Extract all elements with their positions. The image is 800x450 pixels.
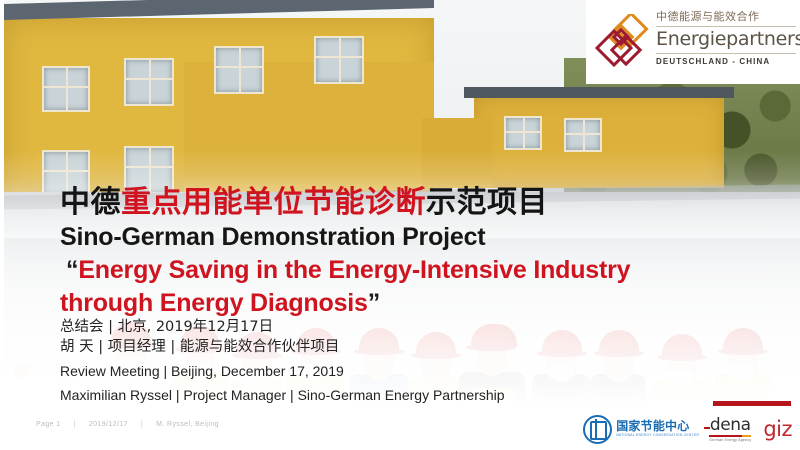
logo-rule — [656, 26, 796, 27]
diamond-lattice-icon — [594, 14, 650, 70]
title-block: 中德重点用能单位节能诊断示范项目 Sino-German Demonstrati… — [60, 186, 760, 318]
window — [214, 46, 264, 94]
meta-en-speaker: Maximilian Ryssel | Project Manager | Si… — [60, 386, 760, 405]
dena-rule — [709, 435, 751, 438]
quote-open-mark: “ — [66, 256, 78, 284]
window — [504, 116, 542, 150]
subtitle-quote-line2: through Energy Diagnosis” — [60, 289, 760, 318]
quote-text-line1: Energy Saving in the Energy-Intensive In… — [78, 256, 630, 284]
meta-block: 总结会 | 北京, 2019年12月17日 胡 天 | 项目经理 | 能源与能效… — [60, 318, 760, 405]
logo-name-cn: 中德能源与能效合作 — [656, 10, 796, 24]
logo-wordmark: 中德能源与能效合作 Energiepartnerschaft DEUTSCHLA… — [656, 10, 796, 66]
footer-separator: | — [74, 421, 76, 428]
meta-cn-speaker: 胡 天 | 项目经理 | 能源与能效合作伙伴项目 — [60, 338, 760, 358]
logo-name-de: Energiepartnerschaft — [656, 28, 796, 51]
footer-author: M. Ryssel, Beijing — [156, 421, 219, 428]
necc-wordmark: 国家节能中心 NATIONAL ENERGY CONSERVATION CENT… — [616, 420, 699, 437]
quote-close-mark: ” — [368, 289, 380, 317]
footer-page: Page 1 — [36, 421, 61, 428]
meta-en-event: Review Meeting | Beijing, December 17, 2… — [60, 362, 760, 381]
title-cn-highlight: 重点用能单位节能诊断 — [121, 185, 426, 220]
presentation-slide: 中德能源与能效合作 Energiepartnerschaft DEUTSCHLA… — [0, 0, 800, 450]
footer-separator: | — [141, 421, 143, 428]
necc-name-cn: 国家节能中心 — [616, 420, 699, 432]
necc-emblem-icon — [583, 415, 612, 444]
window — [564, 118, 602, 152]
window — [124, 58, 174, 106]
slide-footer: Page 1|2019/12/17|M. Ryssel, Beijing 国家节… — [0, 406, 800, 450]
subtitle-quote-line1: “Energy Saving in the Energy-Intensive I… — [60, 256, 760, 285]
title-english: Sino-German Demonstration Project — [60, 222, 760, 252]
title-chinese: 中德重点用能单位节能诊断示范项目 — [60, 186, 760, 220]
logo-rule — [656, 53, 796, 54]
necc-logo: 国家节能中心 NATIONAL ENERGY CONSERVATION CENT… — [583, 415, 699, 444]
dena-logo: dena German Energy Agency — [709, 415, 751, 443]
title-cn-prefix: 中德 — [60, 185, 121, 220]
footer-date: 2019/12/17 — [89, 421, 128, 428]
giz-logo: giz — [761, 419, 792, 440]
dena-dash-icon — [704, 427, 710, 430]
dena-wordmark: dena — [709, 417, 751, 434]
title-cn-suffix: 示范项目 — [426, 185, 548, 220]
logo-countries: DEUTSCHLAND - CHINA — [656, 57, 796, 66]
necc-name-en: NATIONAL ENERGY CONSERVATION CENTER — [616, 434, 699, 437]
footer-logo-row: 国家节能中心 NATIONAL ENERGY CONSERVATION CENT… — [583, 414, 792, 444]
window — [42, 66, 90, 112]
window — [314, 36, 364, 84]
dena-subtitle: German Energy Agency — [709, 439, 751, 443]
energy-partnership-logo: 中德能源与能效合作 Energiepartnerschaft DEUTSCHLA… — [586, 0, 800, 84]
footer-note: Page 1|2019/12/17|M. Ryssel, Beijing — [36, 421, 219, 428]
meta-cn-event: 总结会 | 北京, 2019年12月17日 — [60, 318, 760, 338]
quote-text-line2: through Energy Diagnosis — [60, 289, 368, 317]
